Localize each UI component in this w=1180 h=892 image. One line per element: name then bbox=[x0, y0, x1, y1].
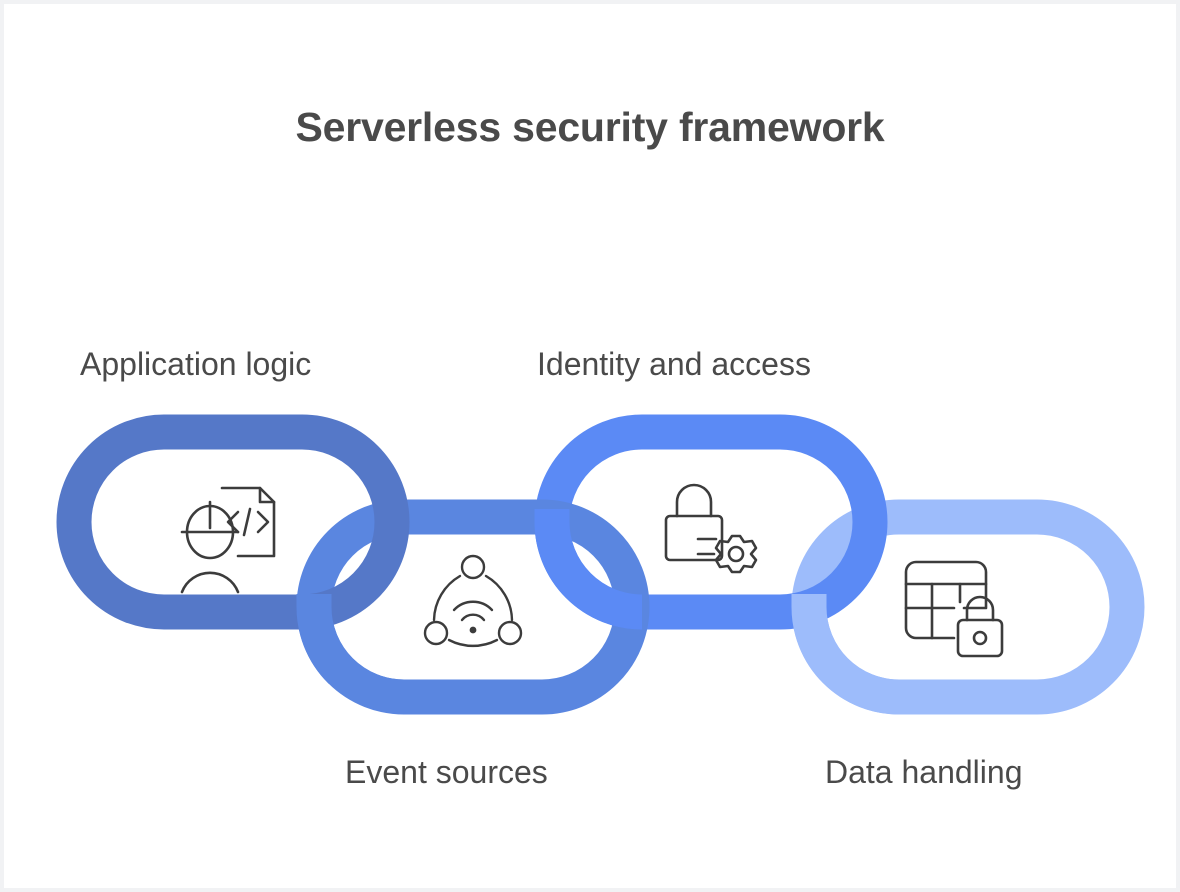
weave-overlap-3-4 bbox=[809, 594, 899, 697]
padlock-gear-icon bbox=[666, 485, 756, 572]
diagram-canvas: Serverless security framework bbox=[4, 4, 1176, 888]
chain-label-application-logic: Application logic bbox=[80, 346, 311, 383]
event-broadcast-network-icon bbox=[425, 556, 521, 646]
chain-label-event-sources: Event sources bbox=[345, 754, 548, 791]
table-lock-icon bbox=[906, 562, 1002, 656]
chain-label-data-handling: Data handling bbox=[825, 754, 1022, 791]
developer-code-document-icon bbox=[182, 488, 274, 592]
chain-label-identity-and-access: Identity and access bbox=[537, 346, 811, 383]
weave-strand-4-over bbox=[809, 594, 899, 697]
